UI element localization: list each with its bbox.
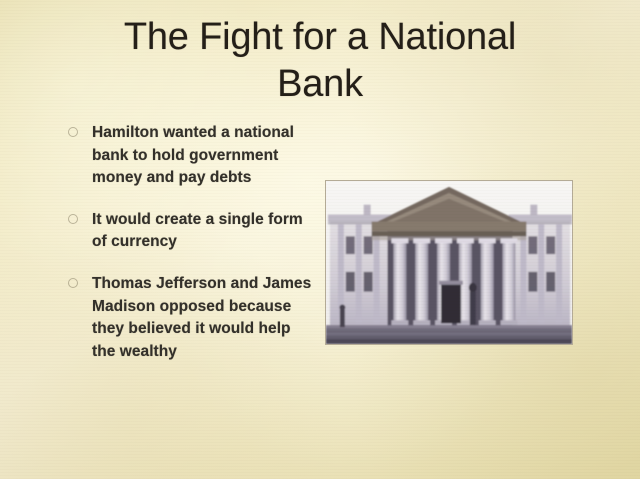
hollow-circle-bullet-icon	[68, 278, 78, 288]
list-item: Hamilton wanted a national bank to hold …	[68, 122, 318, 190]
list-item: It would create a single form of currenc…	[68, 209, 318, 254]
neoclassical-bank-building-photo	[325, 180, 573, 345]
presentation-slide: The Fight for a National Bank Hamilton w…	[0, 0, 640, 479]
hollow-circle-bullet-icon	[68, 214, 78, 224]
bullet-text: Thomas Jefferson and James Madison oppos…	[92, 273, 318, 363]
hollow-circle-bullet-icon	[68, 127, 78, 137]
bullet-list: Hamilton wanted a national bank to hold …	[68, 122, 318, 363]
bullet-text: It would create a single form of currenc…	[92, 209, 318, 254]
bullet-text: Hamilton wanted a national bank to hold …	[92, 122, 318, 190]
bank-building-illustration	[326, 181, 572, 344]
slide-title: The Fight for a National Bank	[60, 14, 580, 108]
list-item: Thomas Jefferson and James Madison oppos…	[68, 273, 318, 363]
